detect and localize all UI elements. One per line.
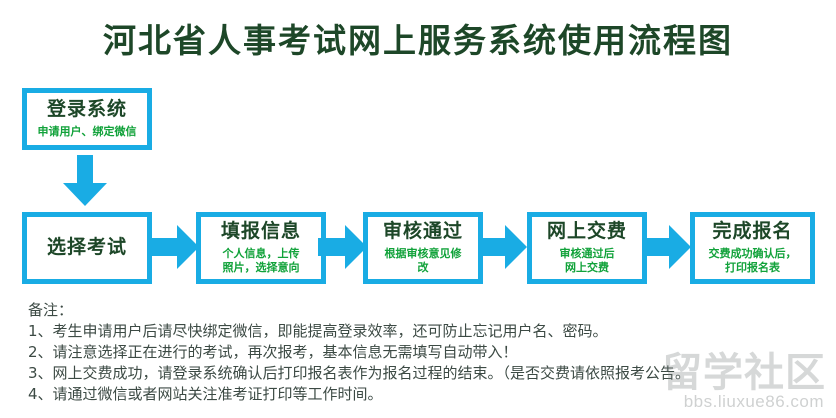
flowchart-page: 河北省人事考试网上服务系统使用流程图 登录系统 申请用户、绑定微信 选择考试 填… <box>0 0 836 418</box>
notes-heading: 备注： <box>28 300 818 321</box>
flow-step-subtitle: 个人信息，上传照片，选择意向 <box>223 247 300 276</box>
flow-step-title: 审核通过 <box>383 221 463 243</box>
flow-step-subtitle: 根据审核意见修改 <box>385 247 462 276</box>
flow-step-title: 完成报名 <box>712 221 792 243</box>
flow-step-select-exam: 选择考试 <box>22 212 152 284</box>
flow-step-subtitle: 交费成功确认后，打印报名表 <box>709 247 797 276</box>
notes-block: 备注： 1、考生申请用户后请尽快绑定微信，即能提高登录效率，还可防止忘记用户名、… <box>28 300 818 405</box>
flow-step-title: 选择考试 <box>47 237 127 259</box>
arrow-right-icon <box>150 224 200 270</box>
flow-step-subtitle: 申请用户、绑定微信 <box>38 125 137 139</box>
arrow-right-icon <box>478 224 528 270</box>
flow-step-title: 填报信息 <box>221 221 301 243</box>
page-title: 河北省人事考试网上服务系统使用流程图 <box>0 14 836 62</box>
arrow-right-icon <box>642 224 692 270</box>
arrow-right-icon <box>318 224 368 270</box>
flow-step-online-pay: 网上交费 审核通过后网上交费 <box>527 212 647 284</box>
note-line-1: 1、考生申请用户后请尽快绑定微信，即能提高登录效率，还可防止忘记用户名、密码。 <box>28 321 818 342</box>
flow-step-login: 登录系统 申请用户、绑定微信 <box>22 88 152 150</box>
flow-step-fill-info: 填报信息 个人信息，上传照片，选择意向 <box>196 212 326 284</box>
note-line-2: 2、请注意选择正在进行的考试，再次报考，基本信息无需填写自动带入！ <box>28 342 818 363</box>
flow-step-title: 登录系统 <box>47 99 127 121</box>
note-line-4: 4、请通过微信或者网站关注准考证打印等工作时间。 <box>28 384 818 405</box>
arrow-down-icon <box>62 155 108 207</box>
note-line-3: 3、网上交费成功，请登录系统确认后打印报名表作为报名过程的结束。（是否交费请依照… <box>28 363 818 384</box>
flow-step-subtitle: 审核通过后网上交费 <box>560 247 615 276</box>
flow-step-review-pass: 审核通过 根据审核意见修改 <box>363 212 483 284</box>
flow-step-finish-apply: 完成报名 交费成功确认后，打印报名表 <box>690 212 815 284</box>
flow-step-title: 网上交费 <box>547 221 627 243</box>
